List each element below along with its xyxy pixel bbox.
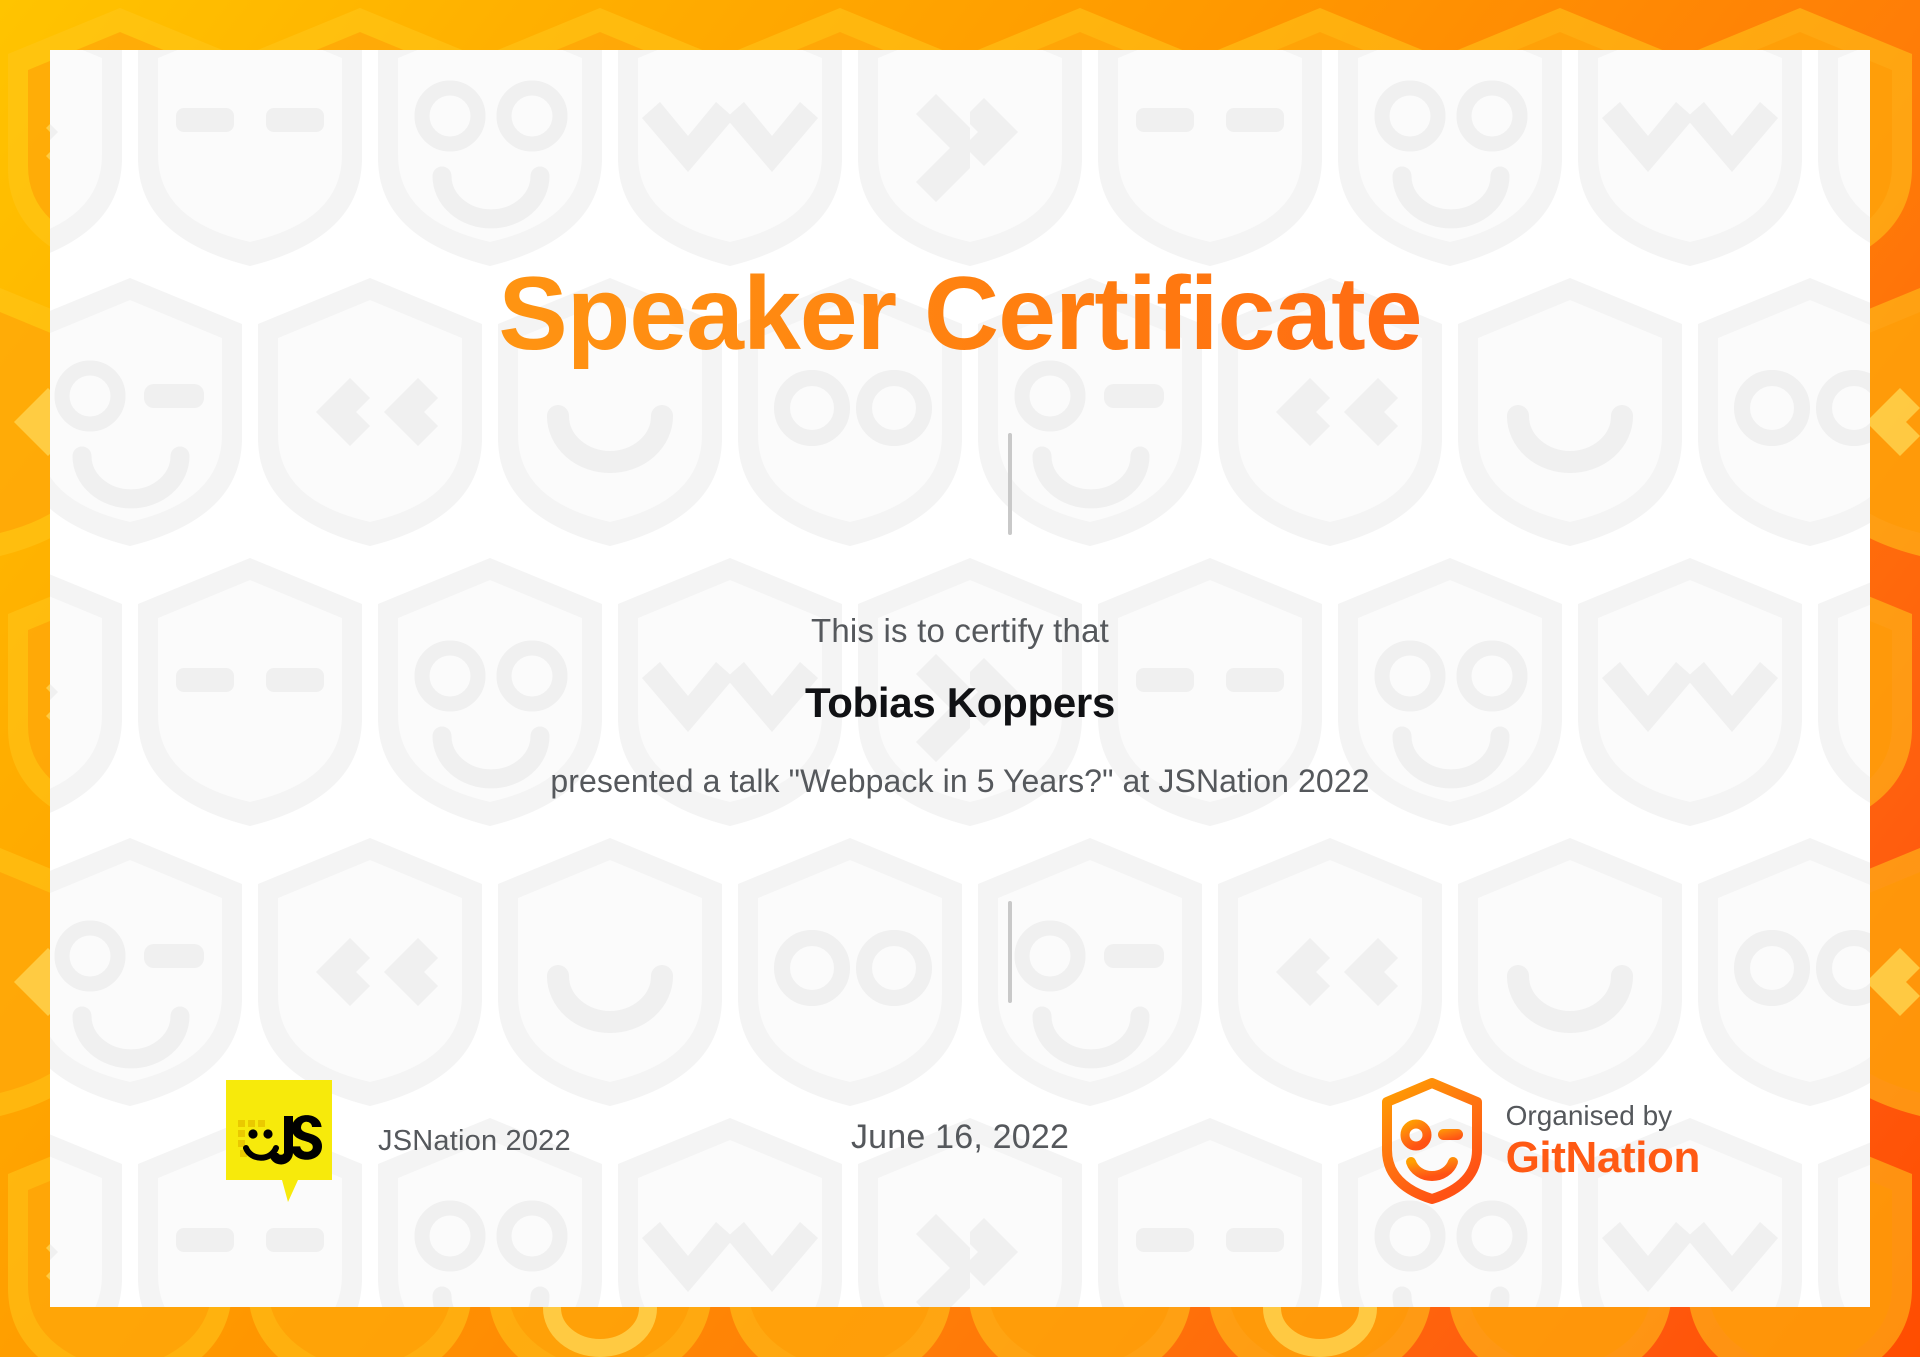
- organised-by-label: Organised by: [1506, 1099, 1700, 1132]
- certificate-card: Speaker Certificate This is to certify t…: [50, 50, 1870, 1307]
- certificate-page: Speaker Certificate This is to certify t…: [0, 0, 1920, 1357]
- organiser-name: GitNation: [1506, 1132, 1700, 1184]
- certificate-footer: JSNation 2022 June 16, 2022: [50, 1070, 1870, 1230]
- recipient-name: Tobias Koppers: [50, 679, 1870, 727]
- divider-bottom: [1008, 901, 1012, 1003]
- organiser-text: Organised by GitNation: [1506, 1099, 1700, 1184]
- page-title: Speaker Certificate: [50, 260, 1870, 369]
- talk-line: presented a talk "Webpack in 5 Years?" a…: [50, 763, 1870, 800]
- gitnation-shield-face-icon: [1380, 1078, 1484, 1204]
- organiser-block: Organised by GitNation: [1380, 1078, 1700, 1204]
- divider-top: [1008, 433, 1012, 535]
- certify-line: This is to certify that: [50, 612, 1870, 650]
